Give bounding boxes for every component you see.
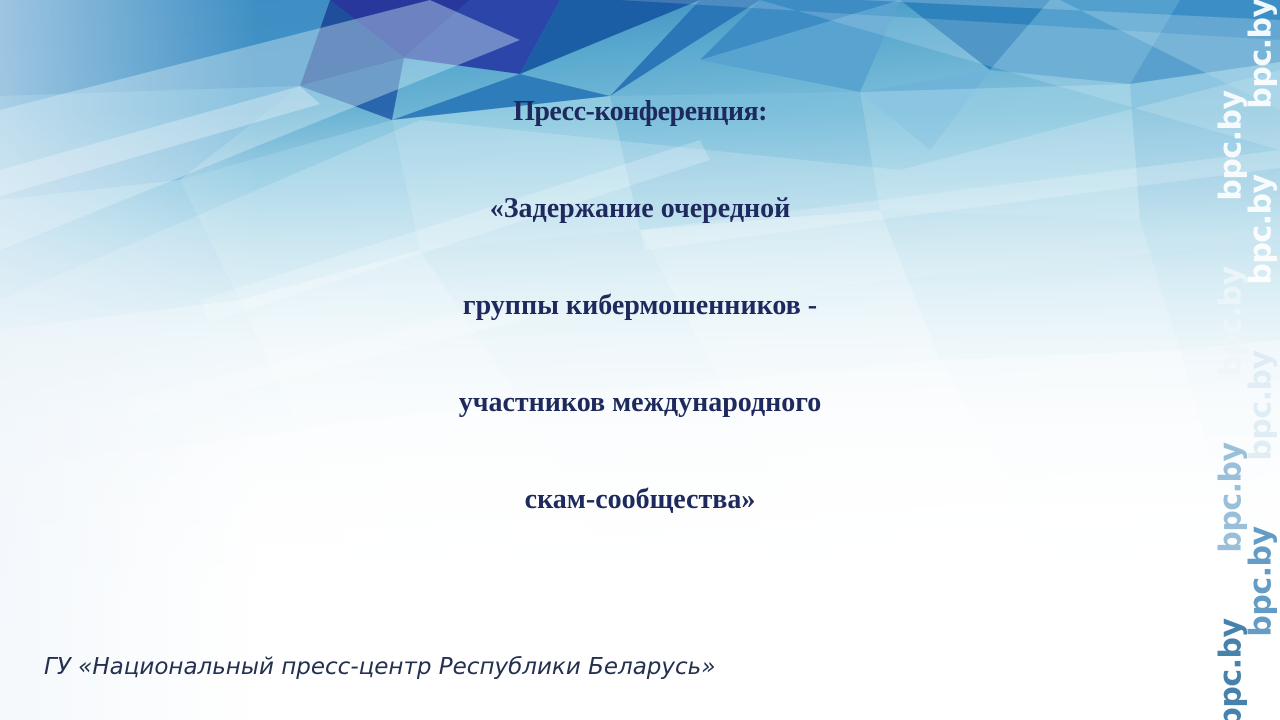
title-line-4: участников международного — [0, 354, 1280, 451]
presentation-slide: bpc.by bpc.by bpc.by bpc.by bpc.by bpc.b… — [0, 0, 1280, 720]
title-line-3: группы кибермошенников - — [0, 257, 1280, 354]
footer-organization-label: ГУ «Национальный пресс-центр Республики … — [44, 652, 715, 682]
title-line-2: «Задержание очередной — [0, 160, 1280, 257]
title-line-5: скам-сообщества» — [0, 451, 1280, 548]
title-line-1: Пресс-конференция: — [0, 63, 1280, 160]
slide-title: Пресс-конференция: «Задержание очередной… — [0, 63, 1280, 548]
slide-footer: ГУ «Национальный пресс-центр Республики … — [44, 652, 715, 682]
